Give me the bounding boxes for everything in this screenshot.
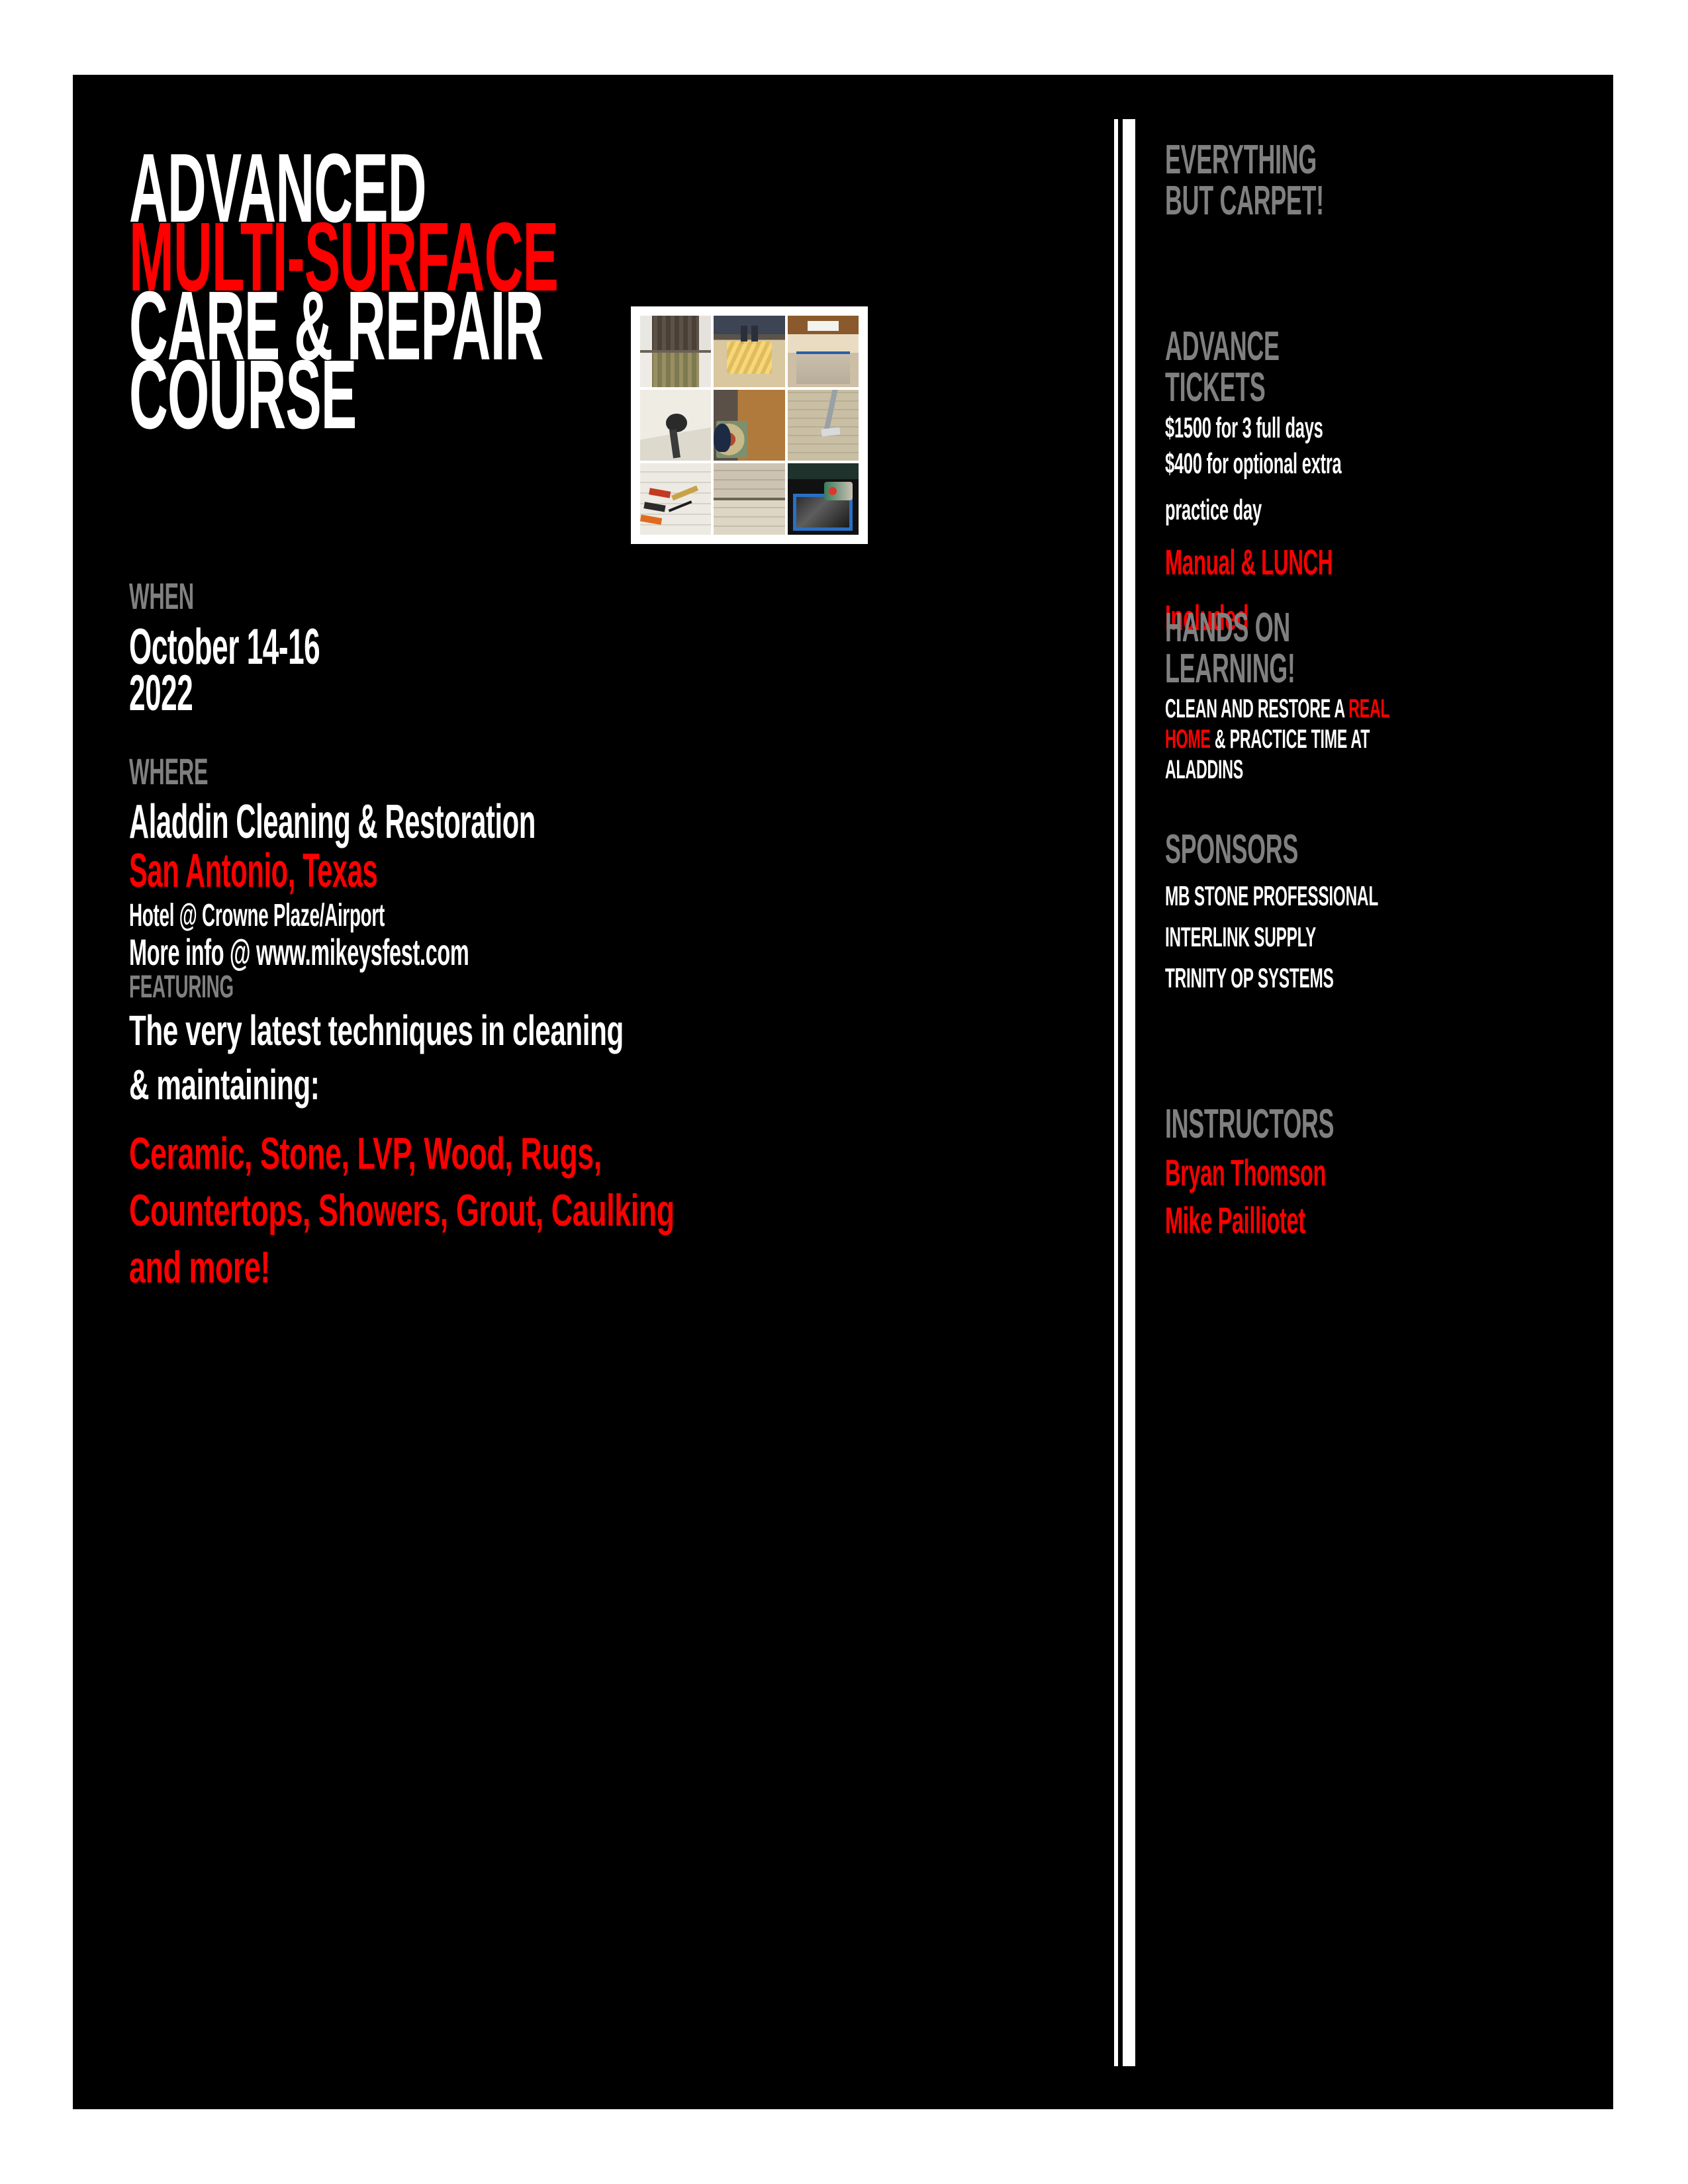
everything-but-carpet-line2-text: BUT CARPET!	[1165, 181, 1324, 222]
hands-on-body-real: REAL	[1348, 694, 1389, 723]
collage-photo-after	[640, 353, 711, 387]
featuring-intro-line2-text: & maintaining:	[129, 1058, 675, 1112]
where-label-text: WHERE	[129, 753, 536, 790]
where-venue-text: Aladdin Cleaning & Restoration	[129, 798, 536, 846]
ticket-price-extra-day-text: $400 for optional extra	[1165, 448, 1341, 480]
ticket-price-3-day: $1500 for 3 full days	[1165, 412, 1469, 444]
collage-photo-stone-floor-polishing-machine	[640, 390, 711, 461]
advance-tickets-head-line1: ADVANCE	[1165, 326, 1469, 367]
photo-collage-frame	[631, 306, 868, 544]
when-date-line1-text: October 14-16	[129, 624, 320, 670]
when-label-text: WHEN	[129, 578, 320, 615]
column-divider-thick-line	[1123, 119, 1135, 2066]
column-divider-thin-line	[1114, 119, 1118, 2066]
featuring-list-line3-text: and more!	[129, 1239, 675, 1296]
poster-canvas: ADVANCED MULTI-SURFACE CARE & REPAIR COU…	[0, 0, 1688, 2184]
when-date-line1: October 14-16	[129, 624, 458, 670]
where-hotel-text: Hotel @ Crowne Plaze/Airport	[129, 899, 536, 933]
when-date-line2-text: 2022	[129, 670, 320, 717]
collage-photo-slate-tile-floor-before-after	[640, 316, 711, 387]
sponsor-item: TRINITY OP SYSTEMS	[1165, 963, 1532, 993]
instructors-section: INSTRUCTORS Bryan Thomson Mike Pailliote…	[1165, 1104, 1456, 1240]
hands-on-body-aladdins: ALADDINS	[1165, 754, 1389, 785]
featuring-list-line1: Ceramic, Stone, LVP, Wood, Rugs,	[129, 1125, 955, 1182]
hands-on-body-mid: & PRACTICE TIME AT	[1211, 725, 1370, 754]
hands-on-body-home: HOME	[1165, 725, 1211, 754]
photo-collage-grid	[640, 316, 859, 535]
when-date-line2: 2022	[129, 670, 458, 717]
where-city: San Antonio, Texas	[129, 847, 829, 895]
poster-black-card: ADVANCED MULTI-SURFACE CARE & REPAIR COU…	[73, 75, 1613, 2109]
instructors-head-text: INSTRUCTORS	[1165, 1104, 1334, 1145]
featuring-intro-line1: The very latest techniques in cleaning	[129, 1003, 955, 1058]
title-line-course-text: COURSE	[129, 354, 356, 435]
ticket-price-extra-day: $400 for optional extra	[1165, 448, 1469, 480]
sponsors-section: SPONSORS MB STONE PROFESSIONAL INTERLINK…	[1165, 829, 1532, 993]
where-city-text: San Antonio, Texas	[129, 847, 536, 895]
instructor-name: Bryan Thomson	[1165, 1153, 1456, 1193]
hands-on-head-line1: HANDS ON	[1165, 608, 1552, 649]
featuring-section: FEATURING The very latest techniques in …	[129, 972, 955, 1296]
featuring-intro-line2: & maintaining:	[129, 1058, 955, 1112]
advance-tickets-head-line2: TICKETS	[1165, 367, 1469, 408]
collage-photo-kitchen-stove-masked-with-plastic	[788, 316, 859, 387]
ticket-price-3-day-text: $1500 for 3 full days	[1165, 412, 1341, 444]
featuring-intro-line1-text: The very latest techniques in cleaning	[129, 1003, 675, 1058]
when-label: WHEN	[129, 578, 458, 615]
ticket-practice-day: practice day	[1165, 494, 1469, 526]
sponsor-item: INTERLINK SUPPLY	[1165, 922, 1532, 952]
hands-on-body-line3: ALADDINS	[1165, 754, 1552, 785]
everything-but-carpet-line1: EVERYTHING	[1165, 140, 1438, 181]
hands-on-body-line1-inner: CLEAN AND RESTORE A REAL	[1165, 694, 1389, 724]
sponsor-item-text: MB STONE PROFESSIONAL	[1165, 881, 1378, 911]
advance-tickets-head-line1-text: ADVANCE	[1165, 326, 1341, 367]
featuring-label: FEATURING	[129, 972, 955, 1003]
sponsor-item-text: TRINITY OP SYSTEMS	[1165, 963, 1378, 993]
hands-on-head-line1-text: HANDS ON	[1165, 608, 1389, 649]
title-line-course: COURSE	[129, 354, 542, 435]
collage-photo-before	[640, 316, 711, 350]
advance-tickets-section: ADVANCE TICKETS $1500 for 3 full days $4…	[1165, 326, 1469, 637]
collage-photo-travertine-paver-before-after	[714, 463, 784, 535]
collage-photo-granite-countertop-masked-with-tape	[788, 463, 859, 535]
instructor-name-text: Mike Pailliotet	[1165, 1201, 1334, 1240]
instructors-head: INSTRUCTORS	[1165, 1104, 1456, 1145]
everything-but-carpet-section: EVERYTHING BUT CARPET!	[1165, 140, 1438, 222]
collage-photo-paver-bottom	[714, 500, 784, 535]
sponsors-head-text: SPONSORS	[1165, 829, 1378, 870]
hands-on-head-line2-text: LEARNING!	[1165, 649, 1389, 690]
hands-on-body-line2: HOME & PRACTICE TIME AT	[1165, 724, 1552, 754]
featuring-label-text: FEATURING	[129, 972, 608, 1003]
everything-but-carpet-line1-text: EVERYTHING	[1165, 140, 1324, 181]
featuring-list: Ceramic, Stone, LVP, Wood, Rugs, Counter…	[129, 1125, 955, 1296]
sponsor-item: MB STONE PROFESSIONAL	[1165, 881, 1532, 911]
sponsors-head: SPONSORS	[1165, 829, 1532, 870]
hands-on-body-line2-inner: HOME & PRACTICE TIME AT	[1165, 724, 1370, 754]
ticket-included-line1: Manual & LUNCH	[1165, 543, 1469, 582]
when-section: WHEN October 14-16 2022	[129, 578, 458, 717]
where-hotel: Hotel @ Crowne Plaze/Airport	[129, 899, 829, 933]
collage-photo-paver-top	[714, 463, 784, 498]
instructor-name: Mike Pailliotet	[1165, 1201, 1456, 1240]
where-more-info-text[interactable]: More info @ www.mikeysfest.com	[129, 933, 536, 972]
ticket-practice-day-text: practice day	[1165, 494, 1341, 526]
instructor-name-text: Bryan Thomson	[1165, 1153, 1334, 1193]
everything-but-carpet-line2: BUT CARPET!	[1165, 181, 1438, 222]
collage-photo-rug-cleaning-in-living-room	[714, 316, 784, 387]
where-label: WHERE	[129, 753, 829, 790]
hands-on-body: CLEAN AND RESTORE A REAL HOME & PRACTICE…	[1165, 694, 1552, 785]
collage-photo-tile-repair-tools-on-floor	[640, 463, 711, 535]
collage-photo-rug-on-hardwood-with-floor-buffer	[714, 390, 784, 461]
right-column: EVERYTHING BUT CARPET! ADVANCE TICKETS $…	[1165, 75, 1613, 2109]
where-more-info[interactable]: More info @ www.mikeysfest.com	[129, 933, 829, 972]
where-section: WHERE Aladdin Cleaning & Restoration San…	[129, 753, 829, 972]
hands-on-body-line1: CLEAN AND RESTORE A REAL	[1165, 694, 1552, 724]
featuring-list-line2-text: Countertops, Showers, Grout, Caulking	[129, 1182, 675, 1239]
ticket-included-line1-text: Manual & LUNCH	[1165, 543, 1341, 582]
featuring-list-line1-text: Ceramic, Stone, LVP, Wood, Rugs,	[129, 1125, 675, 1182]
featuring-list-line3: and more!	[129, 1239, 955, 1296]
sponsor-item-text: INTERLINK SUPPLY	[1165, 922, 1378, 952]
featuring-list-line2: Countertops, Showers, Grout, Caulking	[129, 1182, 955, 1239]
hands-on-head-line2: LEARNING!	[1165, 649, 1552, 690]
left-column: ADVANCED MULTI-SURFACE CARE & REPAIR COU…	[129, 75, 1102, 2109]
where-venue: Aladdin Cleaning & Restoration	[129, 798, 829, 846]
collage-photo-tile-floor-wand-cleaning	[788, 390, 859, 461]
hands-on-learning-section: HANDS ON LEARNING! CLEAN AND RESTORE A R…	[1165, 608, 1552, 785]
hands-on-body-pre: CLEAN AND RESTORE A	[1165, 694, 1348, 723]
advance-tickets-head-line2-text: TICKETS	[1165, 367, 1341, 408]
